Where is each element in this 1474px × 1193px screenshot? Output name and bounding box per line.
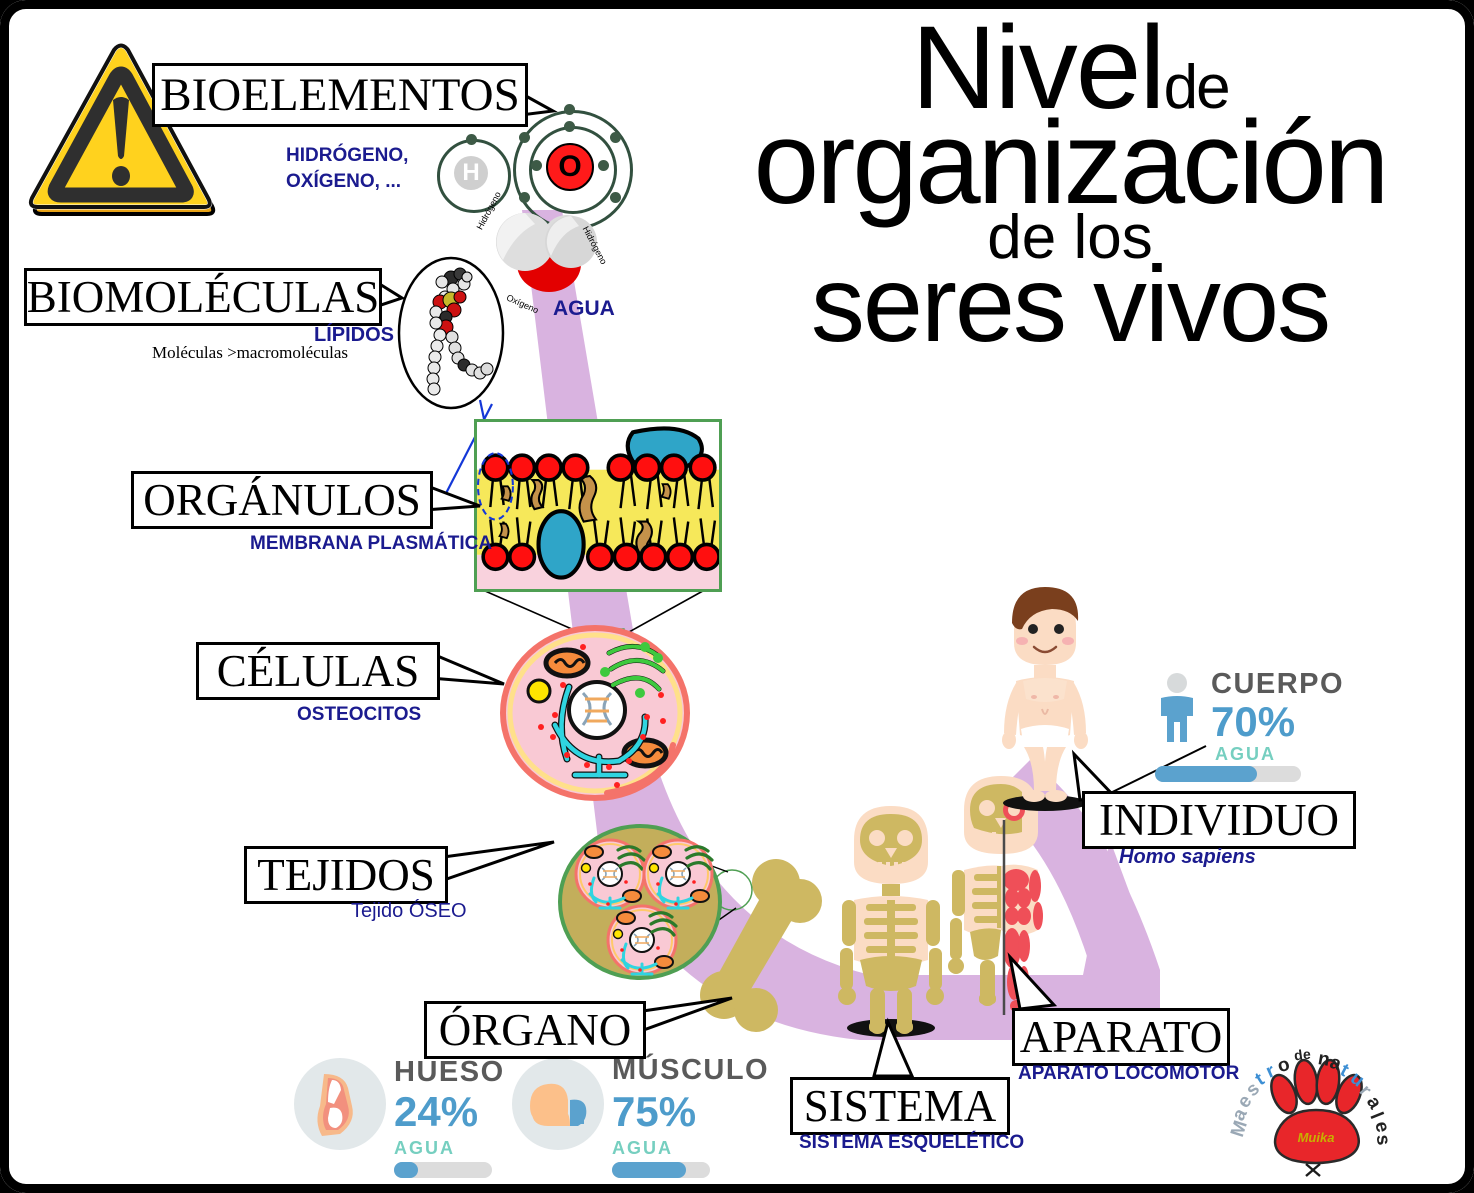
biomoleculas-note: Moléculas >macromoléculas [152, 343, 348, 363]
callout-organulos-label: ORGÁNULOS [143, 478, 421, 523]
celulas-sublabel: OSTEOCITOS [297, 704, 421, 726]
hueso-name: HUESO [394, 1056, 505, 1089]
hueso-agua-label: AGUA [394, 1138, 455, 1159]
leader-bioelementos [515, 85, 615, 155]
leader-organo [636, 996, 746, 1046]
callout-aparato-label: APARATO [1020, 1015, 1223, 1060]
callout-bioelementos[interactable]: BIOELEMENTOS [152, 63, 528, 127]
title-line-2: organización [690, 113, 1450, 214]
callout-biomoleculas[interactable]: BIOMOLÉCULAS [24, 268, 382, 326]
leader-celulas [428, 650, 518, 700]
callout-celulas-label: CÉLULAS [217, 649, 420, 694]
callout-individuo-label: INDIVIDUO [1099, 798, 1339, 843]
callout-sistema-label: SISTEMA [804, 1084, 997, 1129]
aparato-sublabel: APARATO LOCOMOTOR [1018, 1063, 1239, 1085]
cuerpo-agua-label: AGUA [1215, 744, 1276, 765]
musculo-percent: 75% [612, 1088, 696, 1136]
bone-tissue-diagram [556, 822, 724, 982]
hueso-percent: 24% [394, 1088, 478, 1136]
plasma-membrane-diagram [474, 419, 722, 592]
animal-cell-diagram [497, 625, 693, 800]
callout-aparato[interactable]: APARATO [1012, 1008, 1230, 1066]
musculo-agua-label: AGUA [612, 1138, 673, 1159]
callout-individuo[interactable]: INDIVIDUO [1082, 791, 1356, 849]
title-line-4: seres vivos [690, 258, 1450, 351]
leader-aparato [1002, 955, 1092, 1015]
callout-organo-label: ÓRGANO [439, 1008, 632, 1053]
hueso-water-bar [394, 1162, 492, 1178]
callout-organo[interactable]: ÓRGANO [424, 1001, 646, 1059]
cuerpo-water-bar [1155, 766, 1301, 782]
tejidos-sublabel: Tejido ÓSEO [351, 900, 467, 923]
leader-tejidos [436, 840, 566, 900]
sistema-sublabel: SISTEMA ESQUELÉTICO [799, 1132, 1024, 1154]
flexed-biceps-icon [524, 1078, 596, 1134]
knee-joint-icon [310, 1072, 372, 1138]
organulos-sublabel: MEMBRANA PLASMÁTICA [250, 533, 492, 555]
logo-inner-text: Muika [1298, 1130, 1335, 1145]
callout-bioelementos-label: BIOELEMENTOS [160, 72, 519, 119]
musculo-water-bar [612, 1162, 710, 1178]
cuerpo-percent: 70% [1211, 698, 1295, 746]
callout-organulos[interactable]: ORGÁNULOS [131, 471, 433, 529]
agua-label: AGUA [553, 297, 615, 321]
individuo-sublabel: Homo sapiens [1119, 846, 1256, 869]
skeleton-figure [830, 800, 952, 1040]
callout-tejidos[interactable]: TEJIDOS [244, 846, 448, 904]
water-badge-hueso: HUESO 24% AGUA [294, 1052, 524, 1184]
cuerpo-name: CUERPO [1211, 668, 1344, 701]
water-badge-cuerpo: CUERPO 70% AGUA [1155, 668, 1325, 780]
callout-tejidos-label: TEJIDOS [257, 853, 435, 898]
person-icon [1155, 672, 1199, 744]
callout-celulas[interactable]: CÉLULAS [196, 642, 440, 700]
page-title: Nivelde organización de los seres vivos [690, 18, 1450, 351]
water-badge-musculo: MÚSCULO 75% AGUA [512, 1052, 752, 1184]
logo-maestro-de-naturales[interactable]: Muika M a e s t r o d e n a t u r a l e … [1228, 1044, 1400, 1184]
callout-biomoleculas-label: BIOMOLÉCULAS [27, 275, 380, 320]
leader-sistema [860, 1020, 940, 1080]
bioelementos-sublabel: HIDRÓGENO, OXÍGENO, ... [286, 143, 408, 194]
callout-sistema[interactable]: SISTEMA [790, 1077, 1010, 1135]
infographic-page: Nivelde organización de los seres vivos … [0, 0, 1474, 1193]
